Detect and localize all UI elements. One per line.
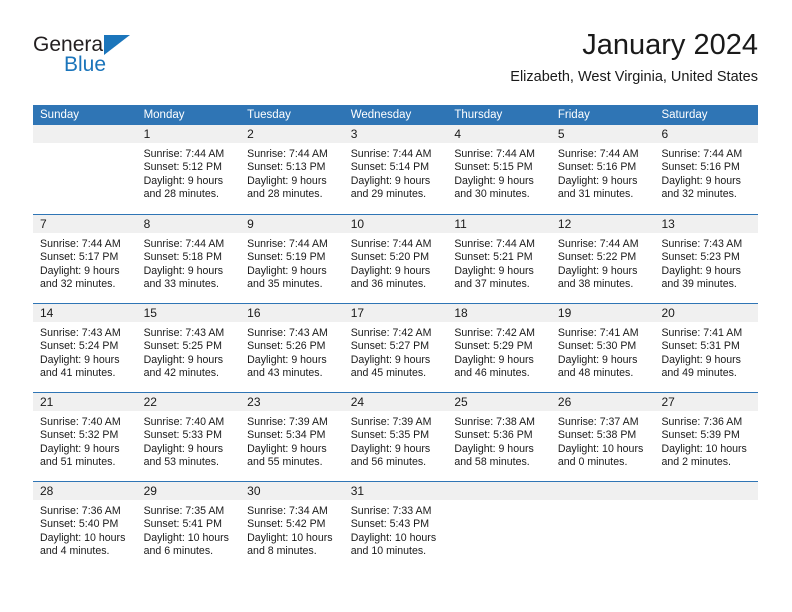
sunset-line: Sunset: 5:12 PM <box>144 161 236 174</box>
daylight-line-1: Daylight: 9 hours <box>661 175 753 188</box>
day-detail-text: Sunrise: 7:44 AMSunset: 5:21 PMDaylight:… <box>447 233 551 292</box>
daylight-line-2: and 53 minutes. <box>144 456 236 469</box>
sunrise-line: Sunrise: 7:44 AM <box>144 148 236 161</box>
sunrise-line: Sunrise: 7:44 AM <box>351 238 443 251</box>
sunset-line: Sunset: 5:26 PM <box>247 340 339 353</box>
calendar-week-row: 21Sunrise: 7:40 AMSunset: 5:32 PMDayligh… <box>33 392 758 481</box>
sunrise-line: Sunrise: 7:44 AM <box>247 238 339 251</box>
sunrise-line: Sunrise: 7:43 AM <box>247 327 339 340</box>
sunset-line: Sunset: 5:21 PM <box>454 251 546 264</box>
day-number-band: 7 <box>33 215 137 233</box>
calendar-day-cell[interactable]: 30Sunrise: 7:34 AMSunset: 5:42 PMDayligh… <box>240 482 344 570</box>
day-detail-text: Sunrise: 7:44 AMSunset: 5:17 PMDaylight:… <box>33 233 137 292</box>
sunrise-line: Sunrise: 7:36 AM <box>40 505 132 518</box>
day-detail-text: Sunrise: 7:44 AMSunset: 5:22 PMDaylight:… <box>551 233 655 292</box>
daylight-line-2: and 32 minutes. <box>661 188 753 201</box>
calendar-day-cell-empty <box>447 482 551 570</box>
weekday-header-saturday: Saturday <box>654 105 758 125</box>
day-detail-text: Sunrise: 7:41 AMSunset: 5:31 PMDaylight:… <box>654 322 758 381</box>
day-number: 31 <box>351 484 364 498</box>
daylight-line-2: and 41 minutes. <box>40 367 132 380</box>
daylight-line-1: Daylight: 9 hours <box>247 175 339 188</box>
day-number-band: 24 <box>344 393 448 411</box>
day-number-band: 13 <box>654 215 758 233</box>
daylight-line-2: and 33 minutes. <box>144 278 236 291</box>
daylight-line-2: and 8 minutes. <box>247 545 339 558</box>
day-detail-text: Sunrise: 7:44 AMSunset: 5:13 PMDaylight:… <box>240 143 344 202</box>
calendar-day-cell-empty <box>551 482 655 570</box>
daylight-line-2: and 4 minutes. <box>40 545 132 558</box>
day-detail-text: Sunrise: 7:44 AMSunset: 5:15 PMDaylight:… <box>447 143 551 202</box>
daylight-line-2: and 49 minutes. <box>661 367 753 380</box>
day-number-band: 16 <box>240 304 344 322</box>
day-number-band: 21 <box>33 393 137 411</box>
sunrise-line: Sunrise: 7:43 AM <box>40 327 132 340</box>
title-block: January 2024 Elizabeth, West Virginia, U… <box>510 28 758 87</box>
day-detail-text: Sunrise: 7:44 AMSunset: 5:12 PMDaylight:… <box>137 143 241 202</box>
sunset-line: Sunset: 5:24 PM <box>40 340 132 353</box>
sunset-line: Sunset: 5:35 PM <box>351 429 443 442</box>
daylight-line-2: and 31 minutes. <box>558 188 650 201</box>
general-blue-logo[interactable]: General Blue <box>33 34 173 84</box>
day-number-band: 10 <box>344 215 448 233</box>
sunrise-line: Sunrise: 7:44 AM <box>40 238 132 251</box>
sunrise-line: Sunrise: 7:44 AM <box>144 238 236 251</box>
day-detail-text: Sunrise: 7:43 AMSunset: 5:25 PMDaylight:… <box>137 322 241 381</box>
daylight-line-2: and 2 minutes. <box>661 456 753 469</box>
logo-text-general: General <box>33 34 108 55</box>
sunset-line: Sunset: 5:13 PM <box>247 161 339 174</box>
day-detail-text <box>33 143 137 148</box>
day-number-band <box>447 482 551 500</box>
daylight-line-2: and 0 minutes. <box>558 456 650 469</box>
sunrise-line: Sunrise: 7:42 AM <box>454 327 546 340</box>
daylight-line-2: and 42 minutes. <box>144 367 236 380</box>
daylight-line-1: Daylight: 9 hours <box>454 265 546 278</box>
daylight-line-1: Daylight: 9 hours <box>247 265 339 278</box>
calendar-day-cell[interactable]: 3Sunrise: 7:44 AMSunset: 5:14 PMDaylight… <box>344 125 448 214</box>
day-detail-text: Sunrise: 7:43 AMSunset: 5:26 PMDaylight:… <box>240 322 344 381</box>
daylight-line-1: Daylight: 9 hours <box>351 265 443 278</box>
daylight-line-2: and 29 minutes. <box>351 188 443 201</box>
sunset-line: Sunset: 5:16 PM <box>558 161 650 174</box>
calendar-day-cell[interactable]: 28Sunrise: 7:36 AMSunset: 5:40 PMDayligh… <box>33 482 137 570</box>
sunset-line: Sunset: 5:32 PM <box>40 429 132 442</box>
calendar-day-cell[interactable]: 15Sunrise: 7:43 AMSunset: 5:25 PMDayligh… <box>137 304 241 392</box>
day-number-band: 3 <box>344 125 448 143</box>
day-detail-text: Sunrise: 7:36 AMSunset: 5:40 PMDaylight:… <box>33 500 137 559</box>
sunrise-line: Sunrise: 7:40 AM <box>40 416 132 429</box>
weekday-header-row: SundayMondayTuesdayWednesdayThursdayFrid… <box>33 105 758 125</box>
day-detail-text: Sunrise: 7:43 AMSunset: 5:24 PMDaylight:… <box>33 322 137 381</box>
calendar-day-cell[interactable]: 29Sunrise: 7:35 AMSunset: 5:41 PMDayligh… <box>137 482 241 570</box>
daylight-line-2: and 55 minutes. <box>247 456 339 469</box>
weekday-header-monday: Monday <box>137 105 241 125</box>
sunset-line: Sunset: 5:43 PM <box>351 518 443 531</box>
day-detail-text <box>654 500 758 505</box>
calendar-day-cell[interactable]: 21Sunrise: 7:40 AMSunset: 5:32 PMDayligh… <box>33 393 137 481</box>
day-number-band: 23 <box>240 393 344 411</box>
day-number: 27 <box>661 395 674 409</box>
day-detail-text: Sunrise: 7:39 AMSunset: 5:34 PMDaylight:… <box>240 411 344 470</box>
sunset-line: Sunset: 5:30 PM <box>558 340 650 353</box>
calendar-day-cell[interactable]: 11Sunrise: 7:44 AMSunset: 5:21 PMDayligh… <box>447 215 551 303</box>
day-number: 14 <box>40 306 53 320</box>
day-number-band: 15 <box>137 304 241 322</box>
sunset-line: Sunset: 5:23 PM <box>661 251 753 264</box>
sunrise-line: Sunrise: 7:44 AM <box>247 148 339 161</box>
weekday-header-tuesday: Tuesday <box>240 105 344 125</box>
daylight-line-2: and 37 minutes. <box>454 278 546 291</box>
day-detail-text: Sunrise: 7:44 AMSunset: 5:19 PMDaylight:… <box>240 233 344 292</box>
daylight-line-1: Daylight: 9 hours <box>558 175 650 188</box>
day-number: 13 <box>661 217 674 231</box>
day-number-band: 19 <box>551 304 655 322</box>
calendar-grid: SundayMondayTuesdayWednesdayThursdayFrid… <box>33 105 758 570</box>
day-detail-text: Sunrise: 7:44 AMSunset: 5:20 PMDaylight:… <box>344 233 448 292</box>
day-number: 30 <box>247 484 260 498</box>
sunrise-line: Sunrise: 7:38 AM <box>454 416 546 429</box>
page-title: January 2024 <box>510 28 758 62</box>
calendar-day-cell[interactable]: 31Sunrise: 7:33 AMSunset: 5:43 PMDayligh… <box>344 482 448 570</box>
sunrise-line: Sunrise: 7:44 AM <box>351 148 443 161</box>
daylight-line-1: Daylight: 9 hours <box>351 175 443 188</box>
day-detail-text: Sunrise: 7:44 AMSunset: 5:16 PMDaylight:… <box>654 143 758 202</box>
day-number-band <box>654 482 758 500</box>
sunset-line: Sunset: 5:14 PM <box>351 161 443 174</box>
day-number-band: 18 <box>447 304 551 322</box>
sunrise-line: Sunrise: 7:34 AM <box>247 505 339 518</box>
day-detail-text: Sunrise: 7:38 AMSunset: 5:36 PMDaylight:… <box>447 411 551 470</box>
sunrise-line: Sunrise: 7:43 AM <box>144 327 236 340</box>
sunrise-line: Sunrise: 7:44 AM <box>454 148 546 161</box>
sunset-line: Sunset: 5:29 PM <box>454 340 546 353</box>
calendar-day-cell[interactable]: 23Sunrise: 7:39 AMSunset: 5:34 PMDayligh… <box>240 393 344 481</box>
day-number-band <box>33 125 137 143</box>
daylight-line-1: Daylight: 10 hours <box>247 532 339 545</box>
daylight-line-2: and 28 minutes. <box>144 188 236 201</box>
daylight-line-1: Daylight: 9 hours <box>558 265 650 278</box>
weekday-header-friday: Friday <box>551 105 655 125</box>
day-number: 9 <box>247 217 254 231</box>
day-number: 17 <box>351 306 364 320</box>
day-number-band: 12 <box>551 215 655 233</box>
daylight-line-2: and 56 minutes. <box>351 456 443 469</box>
daylight-line-2: and 45 minutes. <box>351 367 443 380</box>
day-number: 18 <box>454 306 467 320</box>
day-number: 20 <box>661 306 674 320</box>
daylight-line-1: Daylight: 9 hours <box>454 175 546 188</box>
day-number: 15 <box>144 306 157 320</box>
sunset-line: Sunset: 5:34 PM <box>247 429 339 442</box>
calendar-day-cell[interactable]: 2Sunrise: 7:44 AMSunset: 5:13 PMDaylight… <box>240 125 344 214</box>
sunset-line: Sunset: 5:42 PM <box>247 518 339 531</box>
day-number: 23 <box>247 395 260 409</box>
daylight-line-1: Daylight: 9 hours <box>351 354 443 367</box>
sunrise-line: Sunrise: 7:41 AM <box>558 327 650 340</box>
day-number-band: 28 <box>33 482 137 500</box>
calendar-week-row: 7Sunrise: 7:44 AMSunset: 5:17 PMDaylight… <box>33 214 758 303</box>
sunset-line: Sunset: 5:17 PM <box>40 251 132 264</box>
sunrise-line: Sunrise: 7:44 AM <box>558 148 650 161</box>
day-number: 21 <box>40 395 53 409</box>
day-detail-text: Sunrise: 7:40 AMSunset: 5:32 PMDaylight:… <box>33 411 137 470</box>
daylight-line-2: and 30 minutes. <box>454 188 546 201</box>
day-number: 11 <box>454 217 466 231</box>
day-number-band: 11 <box>447 215 551 233</box>
calendar-day-cell[interactable]: 22Sunrise: 7:40 AMSunset: 5:33 PMDayligh… <box>137 393 241 481</box>
calendar-day-cell[interactable]: 7Sunrise: 7:44 AMSunset: 5:17 PMDaylight… <box>33 215 137 303</box>
sunset-line: Sunset: 5:15 PM <box>454 161 546 174</box>
day-number-band: 31 <box>344 482 448 500</box>
daylight-line-2: and 48 minutes. <box>558 367 650 380</box>
calendar-day-cell[interactable]: 10Sunrise: 7:44 AMSunset: 5:20 PMDayligh… <box>344 215 448 303</box>
sunrise-line: Sunrise: 7:43 AM <box>661 238 753 251</box>
day-number-band: 27 <box>654 393 758 411</box>
daylight-line-2: and 43 minutes. <box>247 367 339 380</box>
calendar-week-row: 14Sunrise: 7:43 AMSunset: 5:24 PMDayligh… <box>33 303 758 392</box>
day-number-band: 4 <box>447 125 551 143</box>
day-number: 6 <box>661 127 668 141</box>
calendar-day-cell[interactable]: 26Sunrise: 7:37 AMSunset: 5:38 PMDayligh… <box>551 393 655 481</box>
calendar-day-cell[interactable]: 16Sunrise: 7:43 AMSunset: 5:26 PMDayligh… <box>240 304 344 392</box>
day-number: 7 <box>40 217 47 231</box>
day-number: 4 <box>454 127 461 141</box>
sunset-line: Sunset: 5:31 PM <box>661 340 753 353</box>
daylight-line-1: Daylight: 10 hours <box>351 532 443 545</box>
day-detail-text: Sunrise: 7:39 AMSunset: 5:35 PMDaylight:… <box>344 411 448 470</box>
calendar-day-cell[interactable]: 12Sunrise: 7:44 AMSunset: 5:22 PMDayligh… <box>551 215 655 303</box>
day-number-band <box>551 482 655 500</box>
calendar-day-cell-empty <box>33 125 137 214</box>
calendar-day-cell[interactable]: 25Sunrise: 7:38 AMSunset: 5:36 PMDayligh… <box>447 393 551 481</box>
daylight-line-1: Daylight: 9 hours <box>558 354 650 367</box>
day-number: 16 <box>247 306 260 320</box>
sunrise-line: Sunrise: 7:37 AM <box>558 416 650 429</box>
day-detail-text: Sunrise: 7:44 AMSunset: 5:18 PMDaylight:… <box>137 233 241 292</box>
daylight-line-1: Daylight: 9 hours <box>247 443 339 456</box>
day-number: 24 <box>351 395 364 409</box>
calendar-day-cell[interactable]: 9Sunrise: 7:44 AMSunset: 5:19 PMDaylight… <box>240 215 344 303</box>
calendar-weeks: 1Sunrise: 7:44 AMSunset: 5:12 PMDaylight… <box>33 125 758 570</box>
daylight-line-1: Daylight: 9 hours <box>661 265 753 278</box>
sunset-line: Sunset: 5:20 PM <box>351 251 443 264</box>
day-number-band: 6 <box>654 125 758 143</box>
logo-triangle-icon <box>104 35 130 55</box>
day-number: 8 <box>144 217 151 231</box>
day-number-band: 22 <box>137 393 241 411</box>
day-number-band: 9 <box>240 215 344 233</box>
daylight-line-2: and 58 minutes. <box>454 456 546 469</box>
calendar-page: General Blue January 2024 Elizabeth, Wes… <box>0 0 792 612</box>
day-detail-text: Sunrise: 7:40 AMSunset: 5:33 PMDaylight:… <box>137 411 241 470</box>
calendar-day-cell[interactable]: 24Sunrise: 7:39 AMSunset: 5:35 PMDayligh… <box>344 393 448 481</box>
day-detail-text: Sunrise: 7:34 AMSunset: 5:42 PMDaylight:… <box>240 500 344 559</box>
day-number-band: 30 <box>240 482 344 500</box>
day-number-band: 29 <box>137 482 241 500</box>
day-number-band: 2 <box>240 125 344 143</box>
sunrise-line: Sunrise: 7:44 AM <box>661 148 753 161</box>
calendar-day-cell[interactable]: 14Sunrise: 7:43 AMSunset: 5:24 PMDayligh… <box>33 304 137 392</box>
day-number: 5 <box>558 127 565 141</box>
daylight-line-1: Daylight: 9 hours <box>454 354 546 367</box>
sunset-line: Sunset: 5:36 PM <box>454 429 546 442</box>
calendar-day-cell[interactable]: 5Sunrise: 7:44 AMSunset: 5:16 PMDaylight… <box>551 125 655 214</box>
calendar-day-cell[interactable]: 27Sunrise: 7:36 AMSunset: 5:39 PMDayligh… <box>654 393 758 481</box>
day-number: 1 <box>144 127 151 141</box>
sunset-line: Sunset: 5:33 PM <box>144 429 236 442</box>
daylight-line-1: Daylight: 9 hours <box>40 265 132 278</box>
sunrise-line: Sunrise: 7:39 AM <box>351 416 443 429</box>
calendar-week-row: 1Sunrise: 7:44 AMSunset: 5:12 PMDaylight… <box>33 125 758 214</box>
daylight-line-1: Daylight: 9 hours <box>351 443 443 456</box>
sunset-line: Sunset: 5:41 PM <box>144 518 236 531</box>
daylight-line-1: Daylight: 10 hours <box>144 532 236 545</box>
day-detail-text: Sunrise: 7:36 AMSunset: 5:39 PMDaylight:… <box>654 411 758 470</box>
daylight-line-2: and 51 minutes. <box>40 456 132 469</box>
sunset-line: Sunset: 5:25 PM <box>144 340 236 353</box>
day-number-band: 25 <box>447 393 551 411</box>
daylight-line-1: Daylight: 9 hours <box>661 354 753 367</box>
daylight-line-2: and 32 minutes. <box>40 278 132 291</box>
sunset-line: Sunset: 5:27 PM <box>351 340 443 353</box>
daylight-line-1: Daylight: 9 hours <box>144 265 236 278</box>
sunrise-line: Sunrise: 7:44 AM <box>558 238 650 251</box>
day-number: 3 <box>351 127 358 141</box>
calendar-week-row: 28Sunrise: 7:36 AMSunset: 5:40 PMDayligh… <box>33 481 758 570</box>
daylight-line-2: and 39 minutes. <box>661 278 753 291</box>
day-detail-text: Sunrise: 7:43 AMSunset: 5:23 PMDaylight:… <box>654 233 758 292</box>
day-number: 29 <box>144 484 157 498</box>
calendar-day-cell[interactable]: 17Sunrise: 7:42 AMSunset: 5:27 PMDayligh… <box>344 304 448 392</box>
day-detail-text <box>447 500 551 505</box>
day-number: 26 <box>558 395 571 409</box>
weekday-header-wednesday: Wednesday <box>344 105 448 125</box>
sunrise-line: Sunrise: 7:36 AM <box>661 416 753 429</box>
sunrise-line: Sunrise: 7:44 AM <box>454 238 546 251</box>
sunset-line: Sunset: 5:18 PM <box>144 251 236 264</box>
sunrise-line: Sunrise: 7:33 AM <box>351 505 443 518</box>
daylight-line-2: and 10 minutes. <box>351 545 443 558</box>
day-detail-text: Sunrise: 7:44 AMSunset: 5:14 PMDaylight:… <box>344 143 448 202</box>
day-detail-text <box>551 500 655 505</box>
day-number-band: 26 <box>551 393 655 411</box>
sunset-line: Sunset: 5:22 PM <box>558 251 650 264</box>
sunrise-line: Sunrise: 7:41 AM <box>661 327 753 340</box>
day-detail-text: Sunrise: 7:37 AMSunset: 5:38 PMDaylight:… <box>551 411 655 470</box>
daylight-line-2: and 35 minutes. <box>247 278 339 291</box>
day-number-band: 14 <box>33 304 137 322</box>
daylight-line-2: and 28 minutes. <box>247 188 339 201</box>
daylight-line-2: and 6 minutes. <box>144 545 236 558</box>
daylight-line-2: and 38 minutes. <box>558 278 650 291</box>
sunset-line: Sunset: 5:39 PM <box>661 429 753 442</box>
day-number: 22 <box>144 395 157 409</box>
calendar-day-cell[interactable]: 4Sunrise: 7:44 AMSunset: 5:15 PMDaylight… <box>447 125 551 214</box>
daylight-line-2: and 46 minutes. <box>454 367 546 380</box>
sunset-line: Sunset: 5:16 PM <box>661 161 753 174</box>
calendar-day-cell[interactable]: 6Sunrise: 7:44 AMSunset: 5:16 PMDaylight… <box>654 125 758 214</box>
sunset-line: Sunset: 5:40 PM <box>40 518 132 531</box>
daylight-line-1: Daylight: 9 hours <box>144 443 236 456</box>
weekday-header-sunday: Sunday <box>33 105 137 125</box>
day-detail-text: Sunrise: 7:42 AMSunset: 5:27 PMDaylight:… <box>344 322 448 381</box>
daylight-line-1: Daylight: 9 hours <box>454 443 546 456</box>
day-detail-text: Sunrise: 7:33 AMSunset: 5:43 PMDaylight:… <box>344 500 448 559</box>
day-number: 28 <box>40 484 53 498</box>
calendar-day-cell[interactable]: 13Sunrise: 7:43 AMSunset: 5:23 PMDayligh… <box>654 215 758 303</box>
day-number: 25 <box>454 395 467 409</box>
sunset-line: Sunset: 5:19 PM <box>247 251 339 264</box>
location-subtitle: Elizabeth, West Virginia, United States <box>510 67 758 87</box>
day-number-band: 5 <box>551 125 655 143</box>
day-detail-text: Sunrise: 7:35 AMSunset: 5:41 PMDaylight:… <box>137 500 241 559</box>
calendar-day-cell[interactable]: 20Sunrise: 7:41 AMSunset: 5:31 PMDayligh… <box>654 304 758 392</box>
logo-text-blue: Blue <box>64 54 106 75</box>
calendar-day-cell-empty <box>654 482 758 570</box>
day-number: 10 <box>351 217 364 231</box>
calendar-day-cell[interactable]: 19Sunrise: 7:41 AMSunset: 5:30 PMDayligh… <box>551 304 655 392</box>
daylight-line-2: and 36 minutes. <box>351 278 443 291</box>
sunrise-line: Sunrise: 7:42 AM <box>351 327 443 340</box>
day-number-band: 1 <box>137 125 241 143</box>
daylight-line-1: Daylight: 10 hours <box>661 443 753 456</box>
calendar-day-cell[interactable]: 1Sunrise: 7:44 AMSunset: 5:12 PMDaylight… <box>137 125 241 214</box>
day-detail-text: Sunrise: 7:41 AMSunset: 5:30 PMDaylight:… <box>551 322 655 381</box>
day-number: 12 <box>558 217 571 231</box>
sunset-line: Sunset: 5:38 PM <box>558 429 650 442</box>
calendar-day-cell[interactable]: 18Sunrise: 7:42 AMSunset: 5:29 PMDayligh… <box>447 304 551 392</box>
day-number-band: 17 <box>344 304 448 322</box>
day-number-band: 8 <box>137 215 241 233</box>
sunrise-line: Sunrise: 7:35 AM <box>144 505 236 518</box>
daylight-line-1: Daylight: 10 hours <box>40 532 132 545</box>
calendar-day-cell[interactable]: 8Sunrise: 7:44 AMSunset: 5:18 PMDaylight… <box>137 215 241 303</box>
daylight-line-1: Daylight: 9 hours <box>247 354 339 367</box>
sunrise-line: Sunrise: 7:39 AM <box>247 416 339 429</box>
sunrise-line: Sunrise: 7:40 AM <box>144 416 236 429</box>
daylight-line-1: Daylight: 9 hours <box>144 175 236 188</box>
daylight-line-1: Daylight: 9 hours <box>40 354 132 367</box>
day-detail-text: Sunrise: 7:44 AMSunset: 5:16 PMDaylight:… <box>551 143 655 202</box>
day-number-band: 20 <box>654 304 758 322</box>
daylight-line-1: Daylight: 9 hours <box>40 443 132 456</box>
daylight-line-1: Daylight: 10 hours <box>558 443 650 456</box>
day-number: 19 <box>558 306 571 320</box>
day-detail-text: Sunrise: 7:42 AMSunset: 5:29 PMDaylight:… <box>447 322 551 381</box>
weekday-header-thursday: Thursday <box>447 105 551 125</box>
day-number: 2 <box>247 127 254 141</box>
daylight-line-1: Daylight: 9 hours <box>144 354 236 367</box>
page-header: General Blue January 2024 Elizabeth, Wes… <box>33 28 758 98</box>
